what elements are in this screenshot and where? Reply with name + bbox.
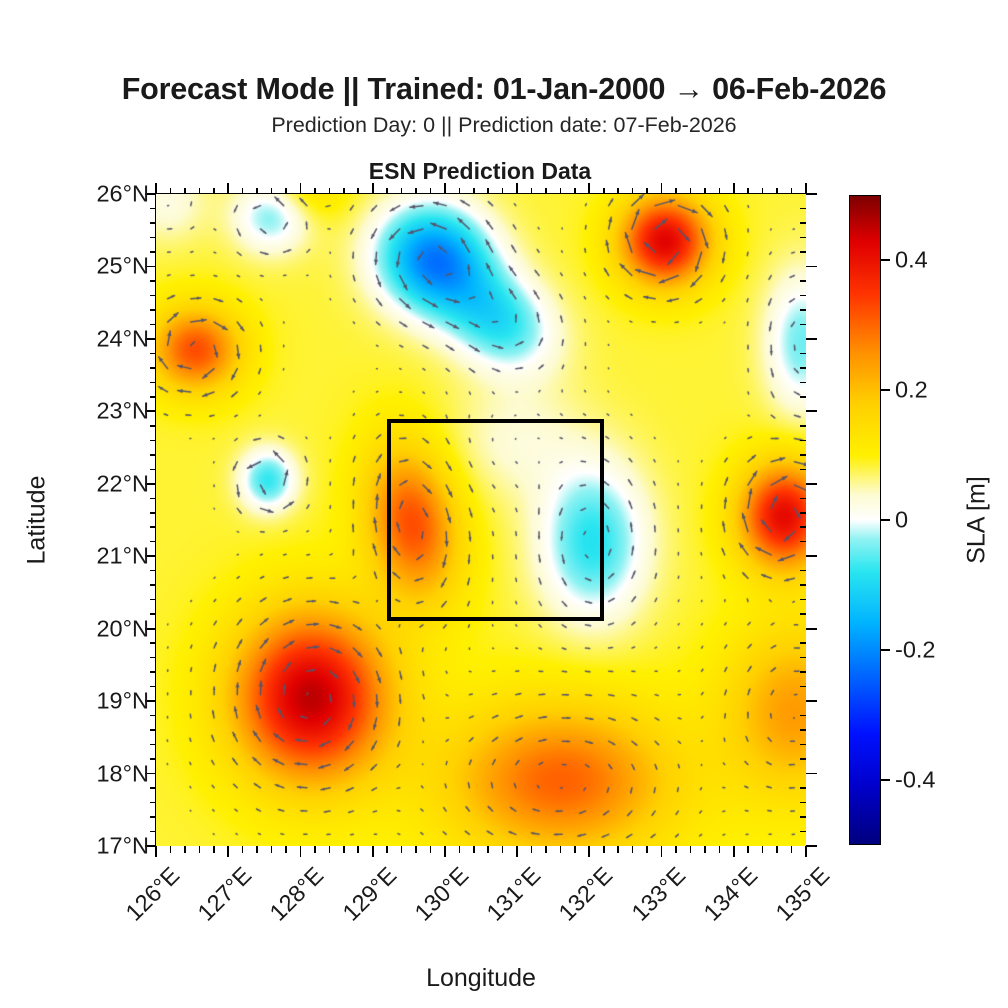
latitude-tick-minor (150, 222, 157, 224)
colorbar-gradient (849, 195, 881, 845)
latitude-tick-minor (800, 758, 807, 760)
longitude-tick-major (661, 846, 663, 857)
longitude-tick-minor (430, 188, 432, 195)
latitude-tick-minor (150, 382, 157, 384)
latitude-tick-minor (800, 744, 807, 746)
latitude-tick-minor (800, 237, 807, 239)
latitude-tick-minor (800, 469, 807, 471)
longitude-tick-minor (170, 188, 172, 195)
longitude-tick-minor (646, 846, 648, 853)
latitude-tick-major (806, 845, 817, 847)
longitude-tick-major (227, 846, 229, 857)
latitude-tick-label: 25°N (0, 253, 149, 280)
map-axes: 17°N18°N19°N20°N21°N22°N23°N24°N25°N26°N… (155, 193, 805, 845)
longitude-tick-minor (791, 188, 793, 195)
latitude-tick-minor (800, 440, 807, 442)
longitude-tick-label: 126°E (25, 862, 186, 1008)
latitude-tick-minor (800, 309, 807, 311)
longitude-tick-minor (430, 846, 432, 853)
latitude-tick-label: 19°N (0, 688, 149, 715)
latitude-tick-minor (150, 512, 157, 514)
longitude-tick-minor (675, 846, 677, 853)
longitude-tick-minor (487, 188, 489, 195)
latitude-tick-minor (150, 599, 157, 601)
colorbar-tick-label: 0 (895, 507, 908, 534)
colorbar-tick-label: 0.2 (895, 377, 928, 404)
longitude-tick-minor (357, 846, 359, 853)
longitude-tick-minor (242, 188, 244, 195)
latitude-tick-major (806, 628, 817, 630)
longitude-tick-minor (213, 846, 215, 853)
longitude-tick-minor (675, 188, 677, 195)
colorbar-tick-label: -0.4 (895, 767, 936, 794)
longitude-tick-minor (704, 188, 706, 195)
longitude-tick-minor (545, 188, 547, 195)
longitude-tick-minor (314, 188, 316, 195)
latitude-tick-label: 23°N (0, 398, 149, 425)
latitude-tick-minor (150, 758, 157, 760)
longitude-tick-minor (329, 188, 331, 195)
longitude-tick-minor (285, 846, 287, 853)
longitude-tick-minor (776, 846, 778, 853)
latitude-tick-minor (150, 802, 157, 804)
latitude-tick-minor (800, 787, 807, 789)
longitude-tick-major (155, 846, 157, 857)
longitude-tick-minor (690, 846, 692, 853)
longitude-tick-minor (357, 188, 359, 195)
longitude-tick-minor (199, 188, 201, 195)
longitude-tick-minor (271, 846, 273, 853)
longitude-tick-major (300, 183, 302, 194)
longitude-tick-minor (242, 846, 244, 853)
longitude-tick-minor (459, 188, 461, 195)
latitude-tick-minor (800, 599, 807, 601)
latitude-tick-minor (800, 831, 807, 833)
latitude-tick-minor (800, 498, 807, 500)
longitude-tick-minor (401, 188, 403, 195)
latitude-tick-minor (800, 526, 807, 528)
latitude-tick-major (806, 555, 817, 557)
colorbar-tick (881, 519, 890, 521)
longitude-tick-minor (719, 846, 721, 853)
longitude-tick-minor (719, 188, 721, 195)
longitude-axis-label: Longitude (426, 964, 536, 993)
longitude-tick-minor (632, 188, 634, 195)
longitude-tick-minor (415, 188, 417, 195)
longitude-tick-major (661, 183, 663, 194)
longitude-tick-minor (560, 846, 562, 853)
longitude-tick-major (444, 846, 446, 857)
latitude-tick-minor (800, 251, 807, 253)
longitude-tick-minor (401, 846, 403, 853)
longitude-tick-minor (632, 846, 634, 853)
latitude-tick-label: 26°N (0, 181, 149, 208)
longitude-tick-minor (791, 846, 793, 853)
figure-suptitle: Forecast Mode || Trained: 01-Jan-2000 → … (0, 72, 1008, 107)
longitude-tick-major (444, 183, 446, 194)
latitude-tick-minor (150, 498, 157, 500)
colorbar-tick (881, 649, 890, 651)
longitude-tick-minor (762, 846, 764, 853)
longitude-tick-minor (473, 846, 475, 853)
longitude-tick-major (733, 183, 735, 194)
latitude-tick-minor (150, 613, 157, 615)
latitude-tick-minor (150, 570, 157, 572)
longitude-tick-minor (776, 188, 778, 195)
latitude-tick-minor (150, 454, 157, 456)
longitude-tick-minor (415, 846, 417, 853)
longitude-tick-minor (574, 188, 576, 195)
latitude-tick-minor (800, 382, 807, 384)
longitude-tick-minor (459, 846, 461, 853)
longitude-tick-minor (574, 846, 576, 853)
latitude-tick-major (806, 410, 817, 412)
longitude-tick-minor (386, 846, 388, 853)
latitude-tick-minor (800, 671, 807, 673)
colorbar-tick-label: -0.2 (895, 637, 936, 664)
longitude-tick-minor (271, 188, 273, 195)
longitude-tick-minor (170, 846, 172, 853)
latitude-tick-minor (150, 584, 157, 586)
latitude-tick-minor (150, 280, 157, 282)
longitude-tick-minor (213, 188, 215, 195)
longitude-tick-major (372, 183, 374, 194)
latitude-tick-minor (800, 584, 807, 586)
longitude-tick-minor (545, 846, 547, 853)
latitude-tick-minor (800, 642, 807, 644)
longitude-tick-minor (314, 846, 316, 853)
latitude-tick-minor (800, 512, 807, 514)
latitude-tick-minor (150, 729, 157, 731)
figure-canvas: Forecast Mode || Trained: 01-Jan-2000 → … (0, 0, 1008, 1008)
latitude-tick-label: 18°N (0, 760, 149, 787)
latitude-tick-minor (800, 715, 807, 717)
longitude-tick-minor (747, 846, 749, 853)
latitude-tick-minor (800, 686, 807, 688)
latitude-tick-major (806, 338, 817, 340)
latitude-tick-major (806, 193, 817, 195)
latitude-tick-minor (150, 251, 157, 253)
longitude-tick-minor (502, 188, 504, 195)
latitude-tick-minor (150, 295, 157, 297)
latitude-tick-minor (800, 222, 807, 224)
longitude-tick-minor (473, 188, 475, 195)
colorbar-tick (881, 259, 890, 261)
latitude-tick-minor (800, 657, 807, 659)
latitude-tick-label: 17°N (0, 833, 149, 860)
longitude-tick-minor (617, 188, 619, 195)
longitude-tick-major (372, 846, 374, 857)
latitude-tick-minor (800, 324, 807, 326)
latitude-tick-minor (150, 425, 157, 427)
longitude-tick-minor (343, 846, 345, 853)
latitude-tick-minor (150, 787, 157, 789)
latitude-tick-label: 24°N (0, 325, 149, 352)
longitude-tick-minor (690, 188, 692, 195)
latitude-tick-minor (150, 744, 157, 746)
latitude-tick-minor (800, 280, 807, 282)
longitude-tick-minor (329, 846, 331, 853)
longitude-tick-major (805, 183, 807, 194)
latitude-tick-minor (150, 208, 157, 210)
latitude-tick-minor (150, 671, 157, 673)
latitude-tick-minor (800, 613, 807, 615)
velocity-quiver-overlay (156, 194, 806, 846)
longitude-tick-minor (184, 846, 186, 853)
longitude-tick-minor (617, 846, 619, 853)
colorbar-tick (881, 389, 890, 391)
latitude-tick-minor (150, 353, 157, 355)
longitude-tick-minor (199, 846, 201, 853)
longitude-tick-major (516, 183, 518, 194)
latitude-tick-minor (150, 309, 157, 311)
colorbar-tick (881, 779, 890, 781)
latitude-tick-minor (150, 324, 157, 326)
latitude-tick-major (806, 483, 817, 485)
latitude-tick-minor (800, 729, 807, 731)
latitude-tick-label: 20°N (0, 615, 149, 642)
latitude-tick-minor (800, 454, 807, 456)
latitude-tick-minor (150, 469, 157, 471)
longitude-tick-minor (256, 188, 258, 195)
longitude-tick-minor (704, 846, 706, 853)
latitude-tick-minor (150, 657, 157, 659)
latitude-tick-minor (150, 816, 157, 818)
longitude-tick-major (588, 846, 590, 857)
longitude-tick-minor (502, 846, 504, 853)
longitude-tick-minor (256, 846, 258, 853)
longitude-tick-minor (184, 188, 186, 195)
latitude-tick-minor (800, 570, 807, 572)
longitude-tick-minor (747, 188, 749, 195)
latitude-tick-minor (800, 816, 807, 818)
longitude-tick-major (733, 846, 735, 857)
colorbar: -0.4-0.200.20.4 (849, 195, 881, 845)
latitude-tick-major (806, 700, 817, 702)
longitude-tick-major (155, 183, 157, 194)
longitude-tick-major (227, 183, 229, 194)
longitude-tick-minor (603, 188, 605, 195)
latitude-tick-minor (800, 208, 807, 210)
latitude-tick-minor (150, 715, 157, 717)
latitude-tick-minor (800, 295, 807, 297)
longitude-tick-major (516, 846, 518, 857)
latitude-tick-minor (800, 802, 807, 804)
longitude-tick-minor (560, 188, 562, 195)
latitude-tick-minor (150, 541, 157, 543)
longitude-tick-minor (531, 846, 533, 853)
longitude-tick-major (300, 846, 302, 857)
colorbar-label: SLA [m] (963, 476, 992, 564)
longitude-tick-minor (531, 188, 533, 195)
latitude-tick-minor (150, 526, 157, 528)
longitude-tick-minor (603, 846, 605, 853)
longitude-tick-minor (762, 188, 764, 195)
latitude-axis-label: Latitude (23, 476, 52, 565)
longitude-tick-minor (646, 188, 648, 195)
latitude-tick-minor (150, 642, 157, 644)
latitude-tick-minor (150, 686, 157, 688)
latitude-tick-minor (150, 367, 157, 369)
longitude-tick-minor (343, 188, 345, 195)
latitude-tick-major (806, 773, 817, 775)
latitude-tick-major (806, 266, 817, 268)
colorbar-tick-label: 0.4 (895, 247, 928, 274)
latitude-tick-minor (800, 396, 807, 398)
longitude-tick-minor (386, 188, 388, 195)
longitude-tick-minor (285, 188, 287, 195)
latitude-tick-minor (800, 425, 807, 427)
longitude-tick-major (805, 846, 807, 857)
latitude-tick-minor (150, 396, 157, 398)
latitude-tick-minor (150, 440, 157, 442)
latitude-tick-minor (150, 831, 157, 833)
longitude-tick-minor (487, 846, 489, 853)
latitude-tick-minor (800, 367, 807, 369)
latitude-tick-minor (150, 237, 157, 239)
longitude-tick-major (588, 183, 590, 194)
latitude-tick-minor (800, 353, 807, 355)
figure-subtitle: Prediction Day: 0 || Prediction date: 07… (0, 113, 1008, 138)
axes-title: ESN Prediction Data (155, 158, 805, 185)
latitude-tick-minor (800, 541, 807, 543)
